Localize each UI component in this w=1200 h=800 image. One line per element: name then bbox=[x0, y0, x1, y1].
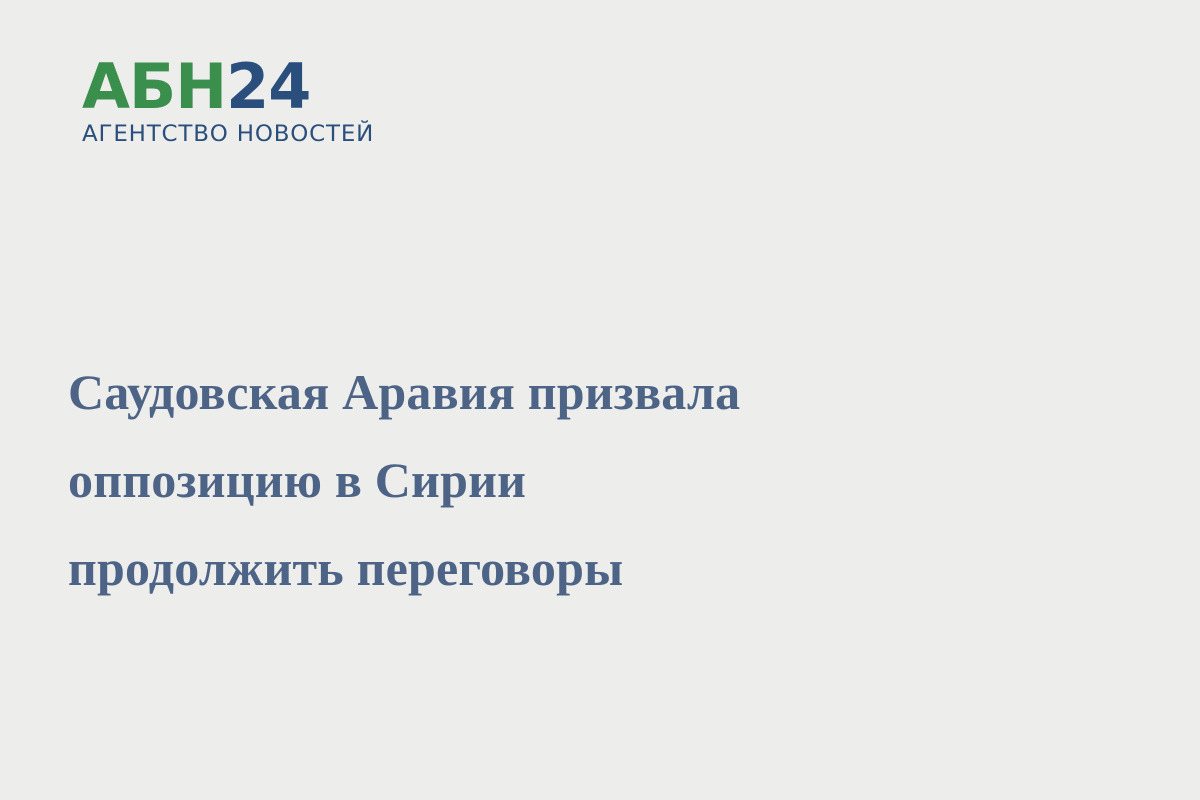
headline-line-3: продолжить переговоры bbox=[68, 524, 868, 612]
logo-wordmark: АБН24 bbox=[82, 58, 372, 115]
headline: Саудовская Аравия призвала оппозицию в С… bbox=[68, 348, 868, 612]
logo-wordmark-24: 24 bbox=[226, 50, 310, 123]
logo-tagline: АГЕНТСТВО НОВОСТЕЙ bbox=[82, 121, 378, 147]
decorative-bar-3 bbox=[1078, 288, 1144, 712]
headline-line-2: оппозицию в Сирии bbox=[68, 436, 868, 524]
abn24-logo[interactable]: АБН24 АГЕНТСТВО НОВОСТЕЙ bbox=[82, 58, 372, 147]
decorative-bar-2 bbox=[995, 232, 1061, 800]
news-card: АБН24 АГЕНТСТВО НОВОСТЕЙ Саудовская Арав… bbox=[0, 0, 1200, 800]
headline-line-1: Саудовская Аравия призвала bbox=[68, 348, 868, 436]
decorative-bar-1 bbox=[911, 151, 978, 625]
logo-wordmark-abn: АБН bbox=[82, 50, 226, 123]
